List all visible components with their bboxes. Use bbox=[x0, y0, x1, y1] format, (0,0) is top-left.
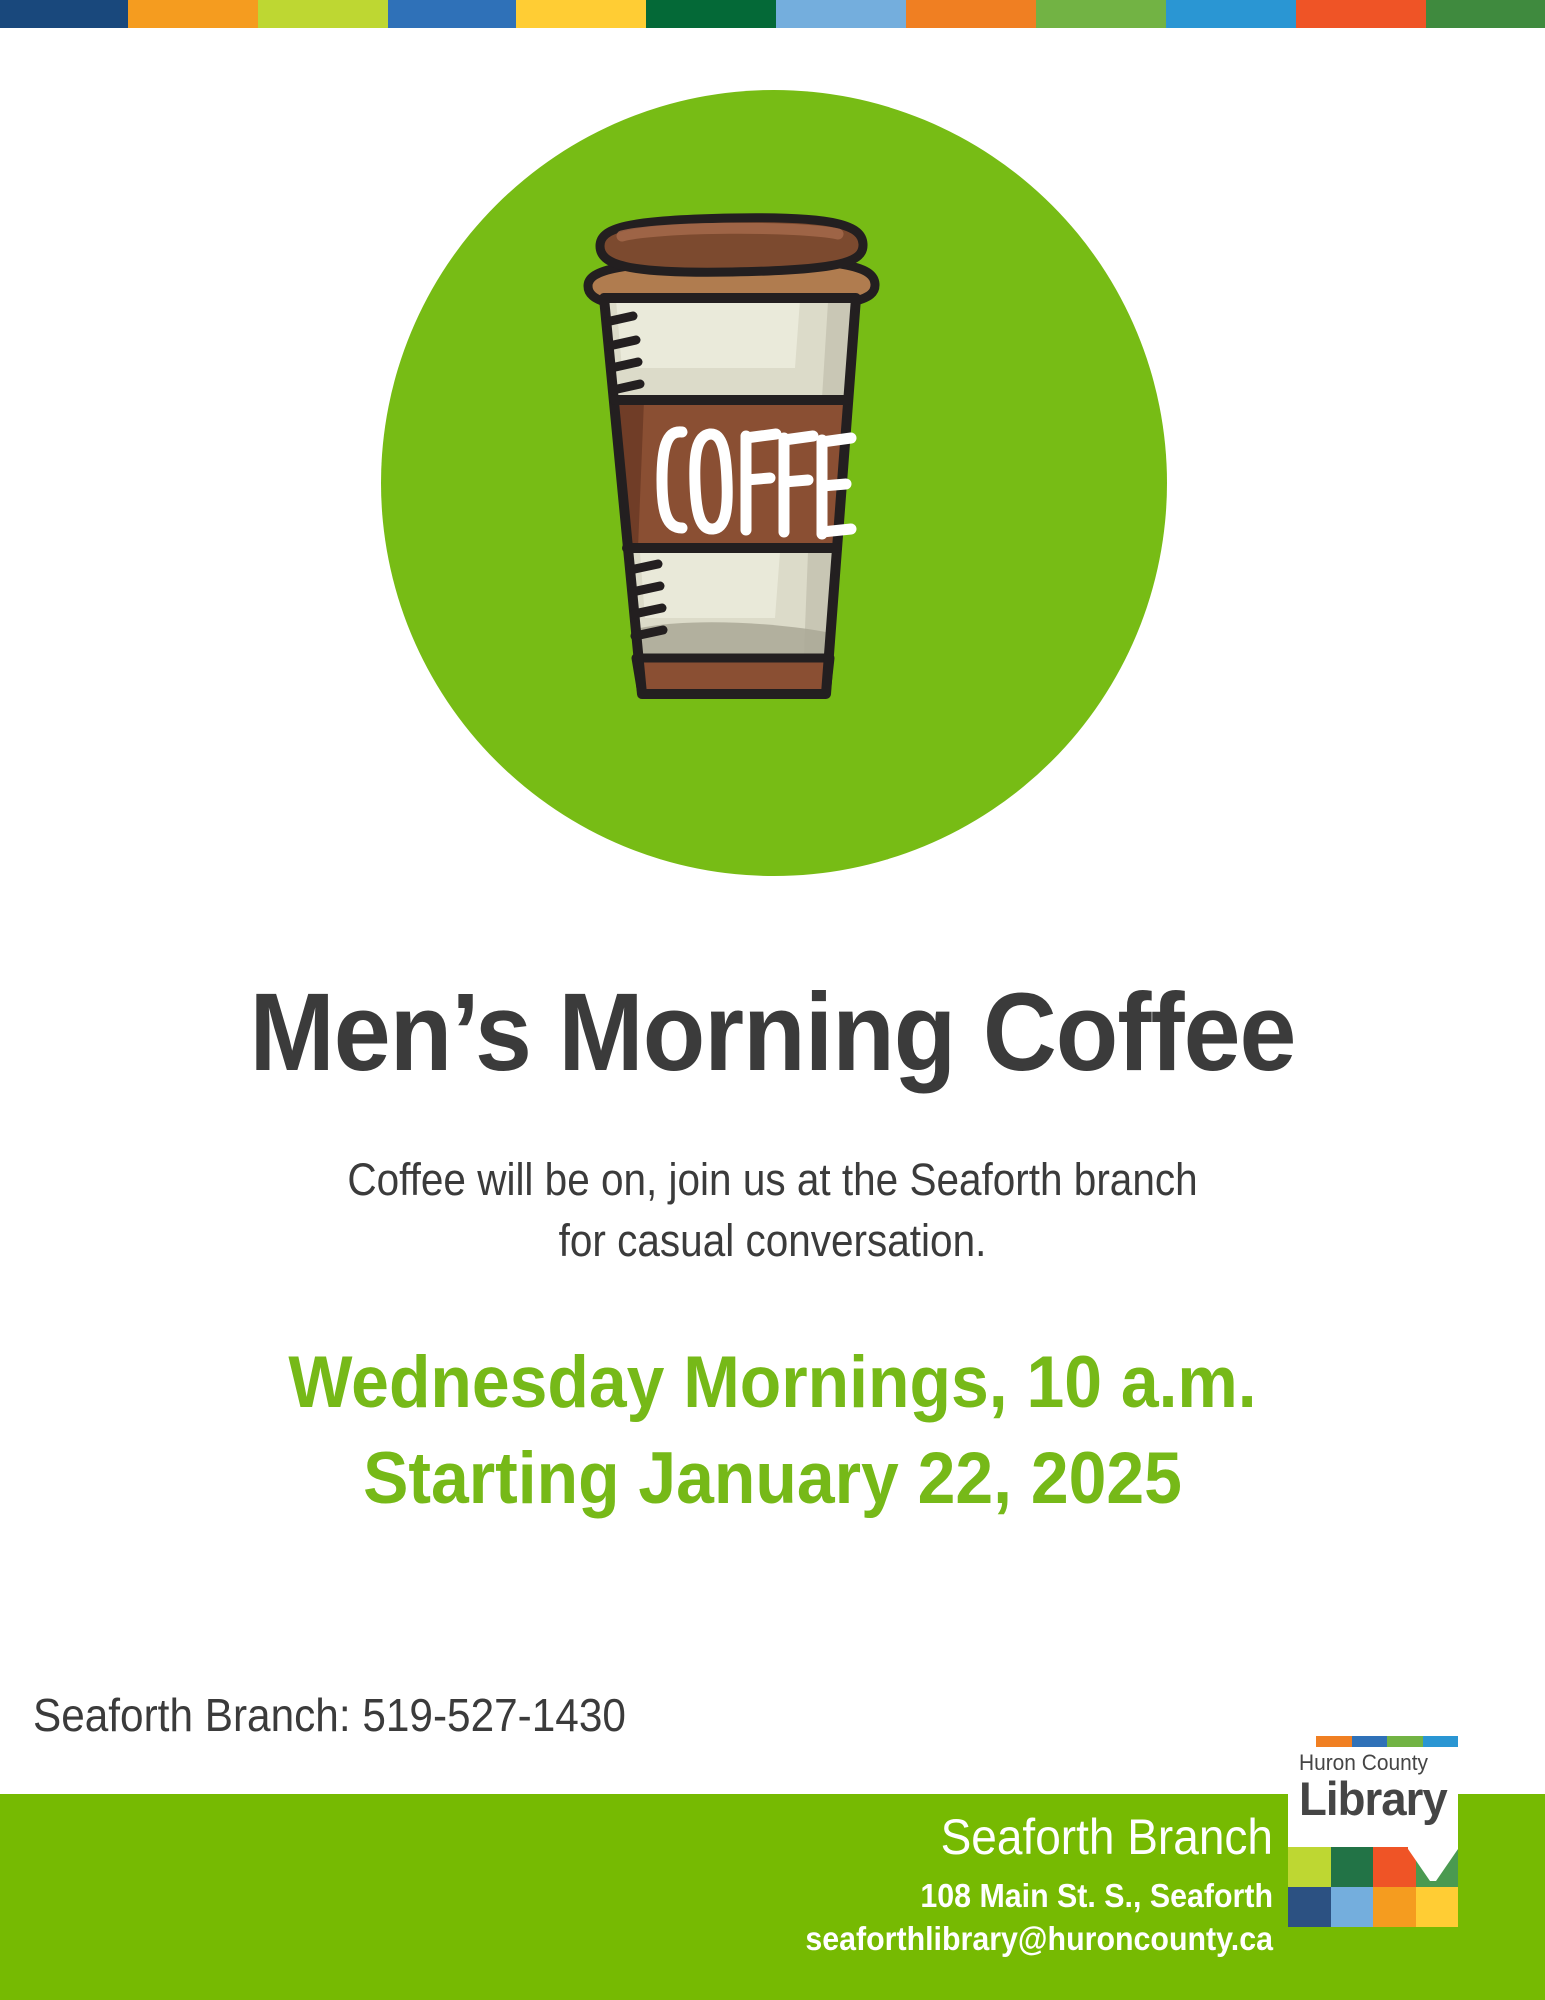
logo-grid-cell-5 bbox=[1288, 1887, 1331, 1927]
color-swatch-2 bbox=[128, 0, 258, 28]
color-swatch-1 bbox=[0, 0, 128, 28]
logo-grid-cell-8 bbox=[1416, 1887, 1459, 1927]
poster-canvas: Men’s Morning Coffee Coffee will be on, … bbox=[0, 0, 1545, 2000]
color-swatch-3 bbox=[258, 0, 388, 28]
logo-top-color-strip bbox=[1316, 1736, 1458, 1747]
schedule-line-2: Starting January 22, 2025 bbox=[54, 1431, 1491, 1527]
logo-strip-swatch-2 bbox=[1352, 1736, 1388, 1747]
footer-contact-block: Seaforth Branch 108 Main St. S., Seafort… bbox=[647, 1810, 1273, 1961]
schedule-line-1: Wednesday Mornings, 10 a.m. bbox=[54, 1335, 1491, 1431]
logo-grid-cell-7 bbox=[1373, 1887, 1416, 1927]
schedule-block: Wednesday Mornings, 10 a.m. Starting Jan… bbox=[54, 1335, 1491, 1528]
color-swatch-8 bbox=[906, 0, 1036, 28]
coffee-cup-illustration bbox=[570, 188, 890, 748]
footer-address: 108 Main St. S., Seaforth bbox=[647, 1875, 1273, 1918]
description-line-1: Coffee will be on, join us at the Seafor… bbox=[77, 1150, 1468, 1211]
huron-county-library-logo: Huron County Library bbox=[1288, 1736, 1458, 1941]
color-swatch-11 bbox=[1296, 0, 1426, 28]
logo-strip-swatch-4 bbox=[1423, 1736, 1459, 1747]
color-swatch-7 bbox=[776, 0, 906, 28]
logo-strip-swatch-3 bbox=[1387, 1736, 1423, 1747]
decorative-color-strip bbox=[0, 0, 1545, 28]
page-title: Men’s Morning Coffee bbox=[54, 975, 1491, 1091]
branch-phone-line: Seaforth Branch: 519-527-1430 bbox=[33, 1688, 626, 1742]
logo-grid-cell-2 bbox=[1331, 1847, 1374, 1887]
footer-email[interactable]: seaforthlibrary@huroncounty.ca bbox=[647, 1918, 1273, 1961]
logo-v-notch bbox=[1408, 1847, 1458, 1881]
logo-grid-cell-6 bbox=[1331, 1887, 1374, 1927]
color-swatch-5 bbox=[516, 0, 646, 28]
color-swatch-6 bbox=[646, 0, 776, 28]
logo-grid-cell-1 bbox=[1288, 1847, 1331, 1887]
description-block: Coffee will be on, join us at the Seafor… bbox=[77, 1150, 1468, 1272]
hero-illustration-area bbox=[0, 28, 1545, 868]
color-swatch-10 bbox=[1166, 0, 1296, 28]
color-swatch-4 bbox=[388, 0, 516, 28]
color-swatch-12 bbox=[1426, 0, 1545, 28]
color-swatch-9 bbox=[1036, 0, 1166, 28]
footer-branch-name: Seaforth Branch bbox=[647, 1810, 1273, 1865]
logo-line-library: Library bbox=[1299, 1771, 1454, 1826]
logo-strip-swatch-1 bbox=[1316, 1736, 1352, 1747]
description-line-2: for casual conversation. bbox=[77, 1211, 1468, 1272]
